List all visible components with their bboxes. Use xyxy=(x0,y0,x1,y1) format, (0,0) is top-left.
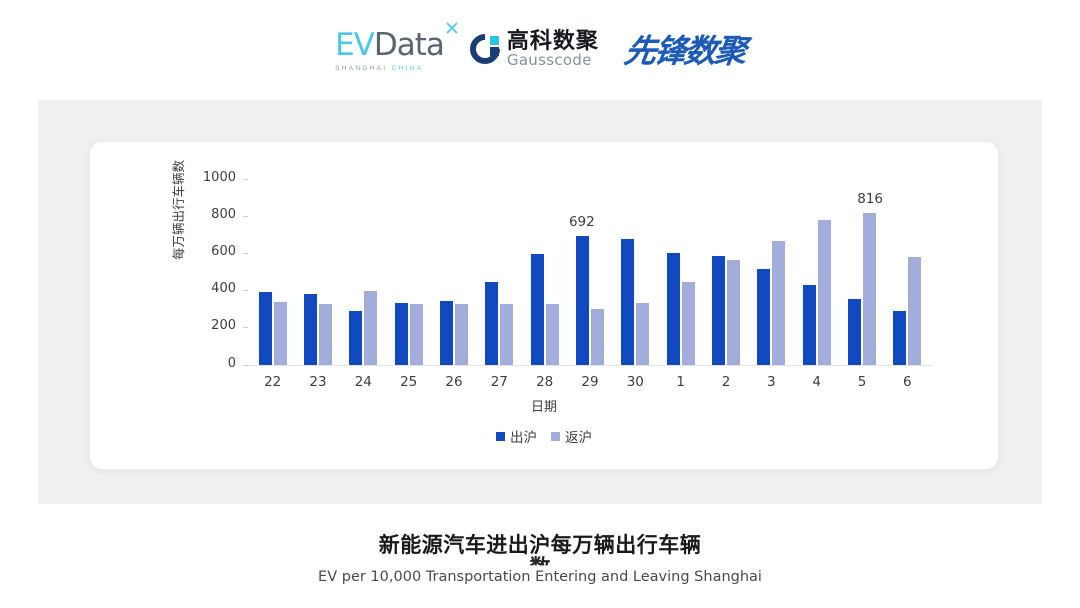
bar-out-shanghai[interactable] xyxy=(667,253,680,364)
x-axis-tick-label: 3 xyxy=(749,374,794,390)
bar-chart: 每万辆出行车辆数 02004006008001000 692816 222324… xyxy=(90,142,998,469)
bar-return-shanghai[interactable] xyxy=(863,213,876,365)
bar-return-shanghai[interactable] xyxy=(818,220,831,365)
bar-out-shanghai[interactable] xyxy=(576,236,589,365)
bar-group xyxy=(613,179,658,365)
bar-out-shanghai[interactable] xyxy=(621,239,634,365)
x-axis-tick-label: 29 xyxy=(567,374,612,390)
y-axis-tick-label: 600 xyxy=(190,244,236,259)
bar-group xyxy=(431,179,476,365)
evdata-tagline: SHANGHAI CHINA xyxy=(335,65,423,72)
x-axis-tick-label: 1 xyxy=(658,374,703,390)
xianfeng-logo: 先锋数聚 xyxy=(622,26,748,72)
bar-out-shanghai[interactable] xyxy=(803,285,816,364)
bar-out-shanghai[interactable] xyxy=(440,301,453,364)
bar-group xyxy=(522,179,567,365)
evdata-tagline-china: CHINA xyxy=(392,65,424,72)
gausscode-logo: 高科数聚 Gausscode xyxy=(470,30,599,68)
bar-return-shanghai[interactable] xyxy=(455,304,468,364)
bar-group xyxy=(386,179,431,365)
y-axis-title: 每万辆出行车辆数 xyxy=(168,160,187,260)
bar-group: 692 xyxy=(567,179,612,365)
bar-group xyxy=(295,179,340,365)
bar-group xyxy=(749,179,794,365)
evdata-tagline-shanghai: SHANGHAI xyxy=(335,65,387,72)
x-axis-tick-label: 24 xyxy=(341,374,386,390)
legend-swatch xyxy=(551,432,560,441)
x-axis-tick-label: 28 xyxy=(522,374,567,390)
evdata-data-text: Data xyxy=(374,27,444,63)
y-axis-tick-label: 0 xyxy=(190,356,236,371)
gausscode-en-text: Gausscode xyxy=(507,53,599,68)
screenshot-root: EV Data ✕ SHANGHAI CHINA 高科数聚 Gausscode … xyxy=(0,0,1080,608)
bar-group xyxy=(341,179,386,365)
bar-return-shanghai[interactable] xyxy=(772,241,785,364)
bar-group xyxy=(658,179,703,365)
bar-return-shanghai[interactable] xyxy=(364,291,377,364)
bar-group: 816 xyxy=(839,179,884,365)
bar-return-shanghai[interactable] xyxy=(636,303,649,365)
bar-value-label: 692 xyxy=(569,214,595,230)
bar-out-shanghai[interactable] xyxy=(485,282,498,364)
bar-return-shanghai[interactable] xyxy=(274,302,287,364)
x-axis-tick-label: 30 xyxy=(613,374,658,390)
y-axis-tick-label: 1000 xyxy=(190,170,236,185)
bar-return-shanghai[interactable] xyxy=(319,304,332,364)
bar-group xyxy=(794,179,839,365)
y-axis-tick-label: 400 xyxy=(190,281,236,296)
y-axis-tick-mark xyxy=(243,216,248,217)
bar-out-shanghai[interactable] xyxy=(259,292,272,364)
chart-legend: 出沪返沪 xyxy=(90,426,998,446)
legend-label: 出沪 xyxy=(510,426,537,446)
y-axis-tick-label: 800 xyxy=(190,207,236,222)
x-axis-baseline xyxy=(248,365,932,367)
bar-out-shanghai[interactable] xyxy=(531,254,544,365)
legend-swatch xyxy=(496,432,505,441)
bar-out-shanghai[interactable] xyxy=(757,269,770,364)
bar-return-shanghai[interactable] xyxy=(908,257,921,365)
bar-out-shanghai[interactable] xyxy=(712,256,725,364)
bar-group xyxy=(250,179,295,365)
bar-out-shanghai[interactable] xyxy=(893,311,906,365)
caption-title-en: EV per 10,000 Transportation Entering an… xyxy=(0,569,1080,585)
y-axis-tick-mark xyxy=(243,290,248,291)
bar-out-shanghai[interactable] xyxy=(349,311,362,364)
legend-label: 返沪 xyxy=(565,426,592,446)
bar-return-shanghai[interactable] xyxy=(546,304,559,364)
gausscode-cn-text: 高科数聚 xyxy=(507,30,599,52)
legend-item[interactable]: 返沪 xyxy=(551,426,592,446)
x-axis-tick-label: 5 xyxy=(839,374,884,390)
bar-return-shanghai[interactable] xyxy=(591,309,604,365)
gausscode-wordmark: 高科数聚 Gausscode xyxy=(507,30,599,68)
x-axis-tick-label: 2 xyxy=(703,374,748,390)
evdata-wordmark: EV Data ✕ xyxy=(335,27,444,63)
bar-out-shanghai[interactable] xyxy=(848,299,861,364)
bar-value-label: 816 xyxy=(857,191,883,207)
x-axis-tick-label: 23 xyxy=(295,374,340,390)
bar-return-shanghai[interactable] xyxy=(727,260,740,364)
x-axis-tick-label: 22 xyxy=(250,374,295,390)
bar-group xyxy=(885,179,930,365)
plot-area: 692816 xyxy=(250,179,930,365)
x-axis-tick-label: 27 xyxy=(477,374,522,390)
x-sparkle-icon: ✕ xyxy=(444,18,460,41)
chart-card: 每万辆出行车辆数 02004006008001000 692816 222324… xyxy=(90,142,998,469)
evdata-logo: EV Data ✕ SHANGHAI CHINA xyxy=(335,27,444,72)
evdata-ev-text: EV xyxy=(335,27,374,63)
x-axis-tick-label: 25 xyxy=(386,374,431,390)
gausscode-g-mark-icon xyxy=(470,34,500,64)
y-axis-tick-mark xyxy=(243,179,248,180)
y-axis-tick-label: 200 xyxy=(190,318,236,333)
bar-group xyxy=(477,179,522,365)
y-axis-tick-mark xyxy=(243,327,248,328)
bar-return-shanghai[interactable] xyxy=(682,282,695,364)
bar-out-shanghai[interactable] xyxy=(395,303,408,365)
y-axis-tick-mark xyxy=(243,253,248,254)
bar-return-shanghai[interactable] xyxy=(500,304,513,365)
x-axis-tick-label: 6 xyxy=(885,374,930,390)
x-axis-tick-label: 4 xyxy=(794,374,839,390)
bar-out-shanghai[interactable] xyxy=(304,294,317,364)
logo-bar: EV Data ✕ SHANGHAI CHINA 高科数聚 Gausscode … xyxy=(0,18,1080,80)
bar-return-shanghai[interactable] xyxy=(410,304,423,364)
x-axis-tick-label: 26 xyxy=(431,374,476,390)
bar-group xyxy=(703,179,748,365)
legend-item[interactable]: 出沪 xyxy=(496,426,537,446)
x-axis-title: 日期 xyxy=(90,396,998,415)
